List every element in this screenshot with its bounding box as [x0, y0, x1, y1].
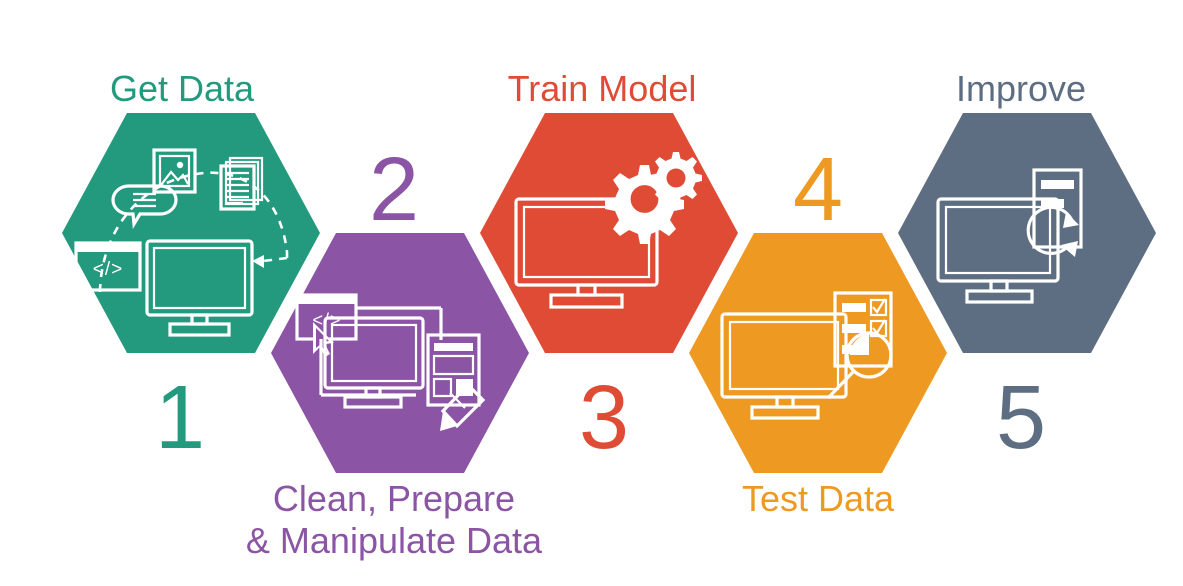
step-1-label: Get Data	[110, 68, 255, 109]
step-1-group[interactable]: </> Get Data 1	[62, 68, 320, 468]
step-5-label: Improve	[956, 68, 1086, 109]
infographic-canvas: </> Get Data 1 </>	[0, 0, 1183, 586]
step-3-label: Train Model	[508, 68, 697, 109]
step-3-number: 3	[579, 368, 629, 468]
step-3-group[interactable]: Train Model 3	[480, 68, 738, 468]
step-5-number: 5	[996, 368, 1046, 468]
step-4-number: 4	[793, 140, 843, 240]
step-2-hexagon[interactable]	[271, 233, 529, 473]
step-4-group[interactable]: Test Data 4	[689, 140, 947, 519]
step-5-group[interactable]: Improve 5	[898, 68, 1156, 468]
step-4-hexagon[interactable]	[689, 233, 947, 473]
step-2-number: 2	[369, 140, 419, 240]
step-4-label: Test Data	[742, 478, 895, 519]
step-1-number: 1	[155, 368, 205, 468]
step-3-hexagon[interactable]	[480, 113, 738, 353]
step-2-label: Clean, Prepare	[273, 478, 515, 519]
step-2-label-line2: & Manipulate Data	[246, 520, 543, 561]
svg-text:</>: </>	[93, 259, 123, 280]
gear-small-icon	[650, 152, 702, 204]
